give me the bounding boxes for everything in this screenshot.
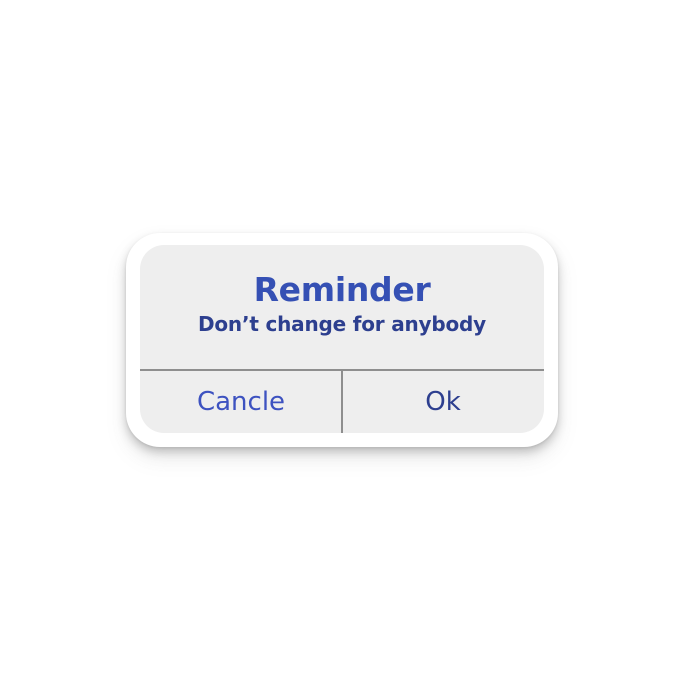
dialog-message: Don’t change for anybody [198, 313, 486, 335]
screenshot-canvas: Reminder Don’t change for anybody Cancle… [0, 0, 700, 700]
ok-button[interactable]: Ok [342, 371, 544, 433]
dialog-title: Reminder [254, 273, 431, 308]
alert-dialog-body: Reminder Don’t change for anybody [140, 245, 544, 369]
alert-dialog-shell: Reminder Don’t change for anybody Cancle… [126, 233, 558, 447]
alert-dialog-card: Reminder Don’t change for anybody Cancle… [140, 245, 544, 433]
cancel-button[interactable]: Cancle [140, 371, 342, 433]
action-divider [341, 371, 343, 433]
dialog-action-bar: Cancle Ok [140, 369, 544, 433]
